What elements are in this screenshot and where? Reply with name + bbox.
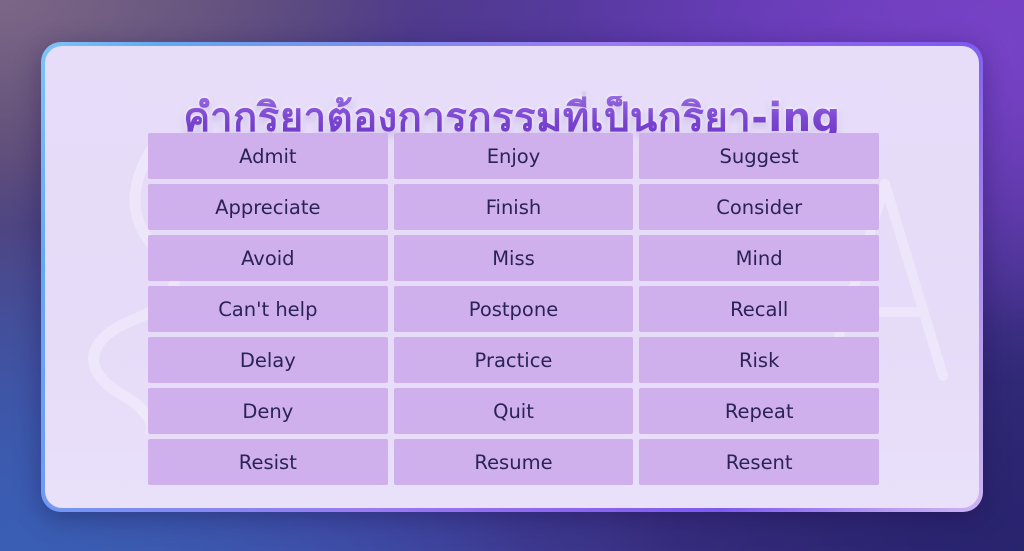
verb-cell: Enjoy — [394, 133, 634, 179]
card-surface: คำกริยาต้องการกรรมที่เป็นกริยา-ing Admit… — [45, 46, 979, 508]
verb-cell: Deny — [148, 388, 388, 434]
verb-cell: Repeat — [639, 388, 879, 434]
verb-cell: Admit — [148, 133, 388, 179]
verb-cell: Can't help — [148, 286, 388, 332]
verb-cell: Resent — [639, 439, 879, 485]
verb-cell: Resist — [148, 439, 388, 485]
verb-table: AdmitEnjoySuggestAppreciateFinishConside… — [148, 133, 879, 485]
verb-cell: Delay — [148, 337, 388, 383]
verb-cell: Miss — [394, 235, 634, 281]
verb-cell: Avoid — [148, 235, 388, 281]
verb-cell: Recall — [639, 286, 879, 332]
verb-cell: Mind — [639, 235, 879, 281]
verb-cell: Practice — [394, 337, 634, 383]
verb-cell: Suggest — [639, 133, 879, 179]
verb-cell: Postpone — [394, 286, 634, 332]
card-border-frame: คำกริยาต้องการกรรมที่เป็นกริยา-ing Admit… — [41, 42, 983, 512]
verb-cell: Consider — [639, 184, 879, 230]
verb-cell: Appreciate — [148, 184, 388, 230]
verb-cell: Quit — [394, 388, 634, 434]
verb-cell: Risk — [639, 337, 879, 383]
verb-cell: Finish — [394, 184, 634, 230]
poster-canvas: คำกริยาต้องการกรรมที่เป็นกริยา-ing Admit… — [0, 0, 1024, 551]
verb-cell: Resume — [394, 439, 634, 485]
